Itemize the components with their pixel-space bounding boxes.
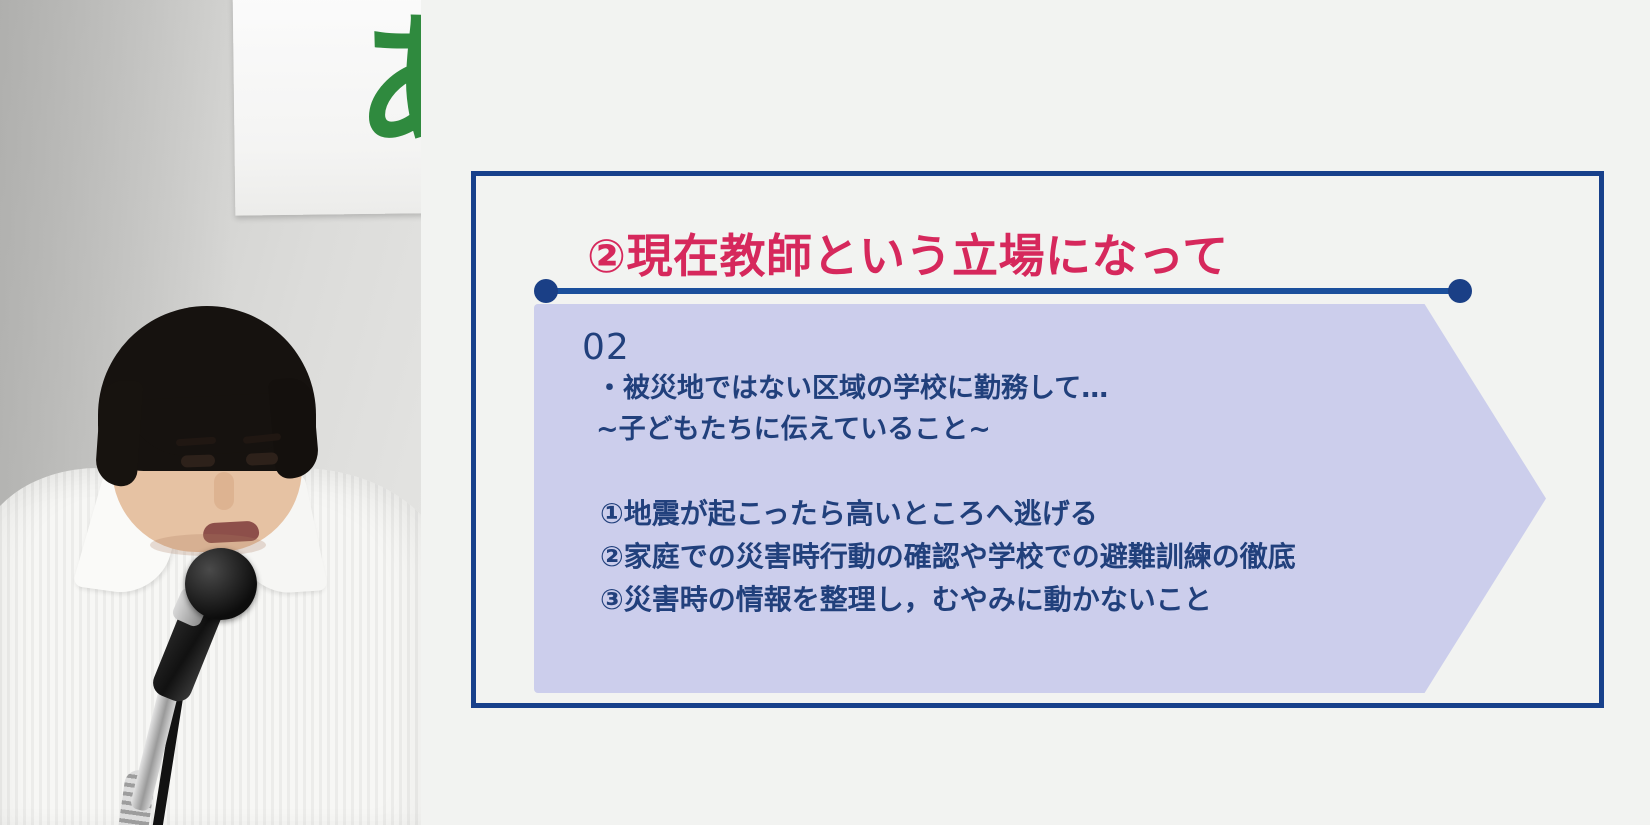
slide-frame: ②現在教師という立場になって 02 ・被災地ではない区域の学校に勤務して… ~子… bbox=[471, 171, 1604, 708]
rule-dot-right bbox=[1448, 279, 1472, 303]
title-underline-rule bbox=[540, 288, 1466, 294]
nose bbox=[214, 472, 234, 510]
rule-dot-left bbox=[534, 279, 558, 303]
list-item-3: ③災害時の情報を整理し，むやみに動かないこと bbox=[582, 578, 1442, 621]
hair-side-left bbox=[94, 379, 143, 488]
eye-left bbox=[181, 454, 215, 467]
screen: あ bbox=[0, 0, 1650, 825]
subtitle-line-2: ~子どもたちに伝えていること~ bbox=[582, 409, 1442, 450]
poster-glyph: あ bbox=[355, 10, 421, 160]
subtitle-line-1: ・被災地ではない区域の学校に勤務して… bbox=[582, 368, 1442, 409]
slide-title: ②現在教師という立場になって bbox=[587, 220, 1229, 286]
slide-area: ②現在教師という立場になって 02 ・被災地ではない区域の学校に勤務して… ~子… bbox=[421, 0, 1650, 825]
presenter-figure bbox=[0, 300, 421, 825]
presenter-video-panel[interactable]: あ bbox=[0, 0, 421, 825]
list-item-2: ②家庭での災害時行動の確認や学校での避難訓練の徹底 bbox=[582, 535, 1442, 578]
section-number: 02 bbox=[582, 328, 1442, 368]
microphone-head bbox=[185, 548, 257, 620]
eye-right bbox=[246, 452, 279, 466]
list-item-1: ①地震が起こったら高いところへ逃げる bbox=[582, 492, 1442, 535]
body-spacer bbox=[582, 450, 1442, 492]
slide-body: 02 ・被災地ではない区域の学校に勤務して… ~子どもたちに伝えていること~ ①… bbox=[582, 328, 1442, 621]
